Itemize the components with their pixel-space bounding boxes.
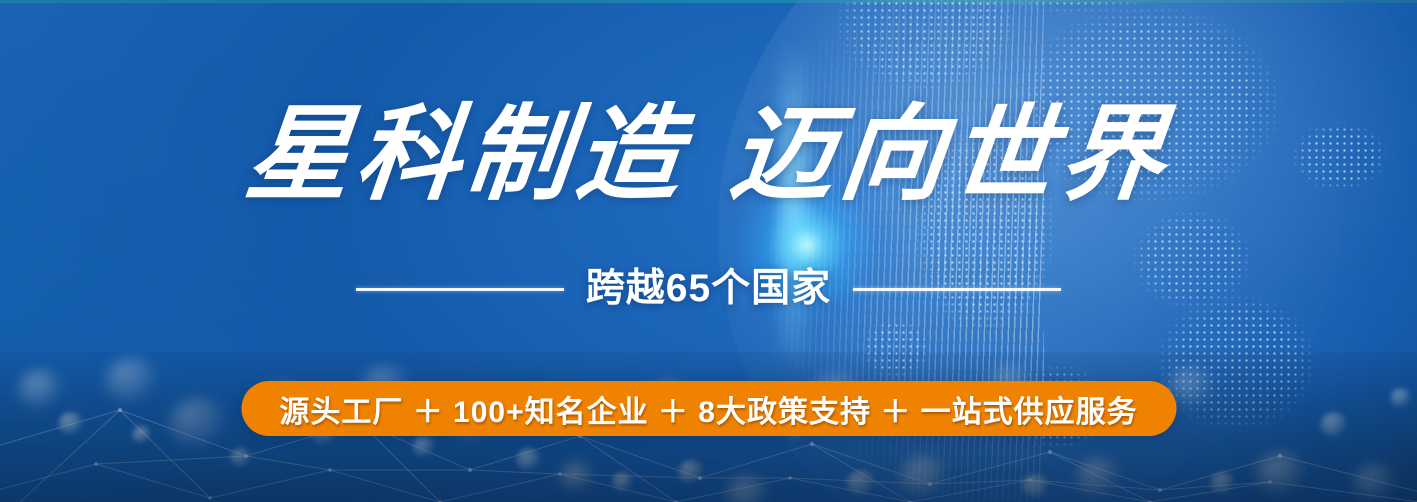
subtitle-rule-left (356, 288, 564, 291)
page-title: 星科制造迈向世界 (0, 104, 1417, 208)
subtitle-row: 跨越65个国家 (0, 268, 1417, 311)
headline-part-1: 星科制造 (240, 98, 692, 213)
highlights-pill-label: 源头工厂 ＋ 100+知名企业 ＋ 8大政策支持 ＋ 一站式供应服务 (279, 387, 1137, 431)
promotional-banner: 星科制造迈向世界 跨越65个国家 源头工厂 ＋ 100+知名企业 ＋ 8大政策支… (0, 0, 1417, 502)
highlights-pill[interactable]: 源头工厂 ＋ 100+知名企业 ＋ 8大政策支持 ＋ 一站式供应服务 (241, 381, 1176, 436)
headline-part-2: 迈向世界 (725, 98, 1177, 213)
subtitle-text: 跨越65个国家 (586, 268, 831, 311)
subtitle-rule-right (853, 288, 1061, 291)
